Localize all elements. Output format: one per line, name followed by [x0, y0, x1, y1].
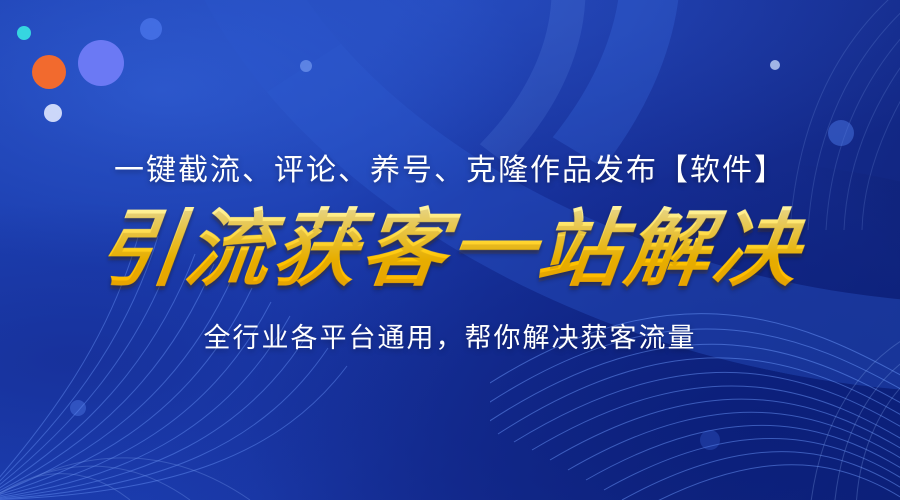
headline: 引流获客一站解决	[87, 205, 814, 293]
promo-banner: 一键截流、评论、养号、克隆作品发布【软件】 引流获客一站解决 全行业各平台通用，…	[0, 0, 900, 500]
subtitle-bottom: 全行业各平台通用，帮你解决获客流量	[204, 316, 697, 355]
subtitle-top: 一键截流、评论、养号、克隆作品发布【软件】	[114, 145, 786, 189]
banner-content: 一键截流、评论、养号、克隆作品发布【软件】 引流获客一站解决 全行业各平台通用，…	[0, 0, 900, 500]
